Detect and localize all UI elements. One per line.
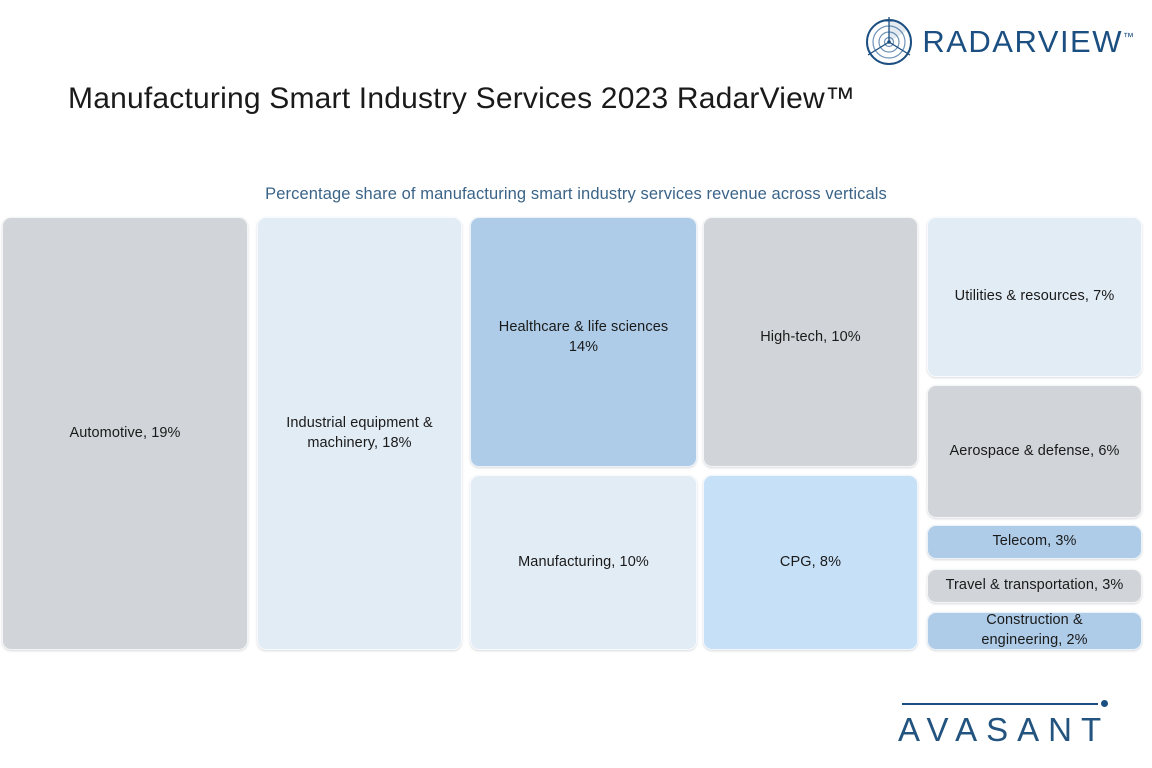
treemap-tile[interactable]: Aerospace & defense, 6% xyxy=(927,385,1142,518)
avasant-rule-line xyxy=(902,703,1098,705)
treemap-chart: Automotive, 19%Industrial equipment & ma… xyxy=(0,217,1152,653)
treemap-tile-label: Automotive, 19% xyxy=(69,424,180,444)
treemap-tile[interactable]: Travel & transportation, 3% xyxy=(927,569,1142,603)
treemap-tile-label: Utilities & resources, 7% xyxy=(955,287,1115,307)
treemap-tile[interactable]: Healthcare & life sciences 14% xyxy=(470,217,697,467)
treemap-tile-label: Telecom, 3% xyxy=(992,532,1076,552)
treemap-tile-label: High-tech, 10% xyxy=(760,328,861,348)
radar-target-icon xyxy=(864,16,914,66)
radarview-logo: RADARVIEW™ xyxy=(864,16,1134,66)
radarview-trademark: ™ xyxy=(1123,31,1134,43)
treemap-tile-label: CPG, 8% xyxy=(780,553,841,573)
treemap-tile-label: Industrial equipment & machinery, 18% xyxy=(286,414,432,453)
treemap-tile-label: Aerospace & defense, 6% xyxy=(950,442,1120,462)
treemap-tile[interactable]: Utilities & resources, 7% xyxy=(927,217,1142,377)
treemap-tile-label: Manufacturing, 10% xyxy=(518,553,649,573)
treemap-tile[interactable]: Telecom, 3% xyxy=(927,525,1142,559)
radarview-wordmark: RADARVIEW™ xyxy=(922,26,1134,57)
treemap-tile[interactable]: Industrial equipment & machinery, 18% xyxy=(257,217,462,650)
avasant-dot-icon xyxy=(1101,700,1108,707)
avasant-logo: AVASANT xyxy=(898,692,1128,750)
chart-subtitle: Percentage share of manufacturing smart … xyxy=(0,185,1152,204)
treemap-tile-label: Healthcare & life sciences 14% xyxy=(499,318,668,357)
avasant-wordmark: AVASANT xyxy=(898,712,1110,748)
treemap-tile[interactable]: Manufacturing, 10% xyxy=(470,475,697,650)
treemap-tile[interactable]: High-tech, 10% xyxy=(703,217,918,467)
page-title: Manufacturing Smart Industry Services 20… xyxy=(68,82,855,116)
treemap-tile[interactable]: Automotive, 19% xyxy=(2,217,248,650)
treemap-tile-label: Travel & transportation, 3% xyxy=(946,576,1124,596)
treemap-tile[interactable]: Construction & engineering, 2% xyxy=(927,612,1142,650)
radarview-wordmark-text: RADARVIEW xyxy=(922,24,1123,59)
treemap-tile-label: Construction & engineering, 2% xyxy=(981,611,1087,650)
treemap-tile[interactable]: CPG, 8% xyxy=(703,475,918,650)
